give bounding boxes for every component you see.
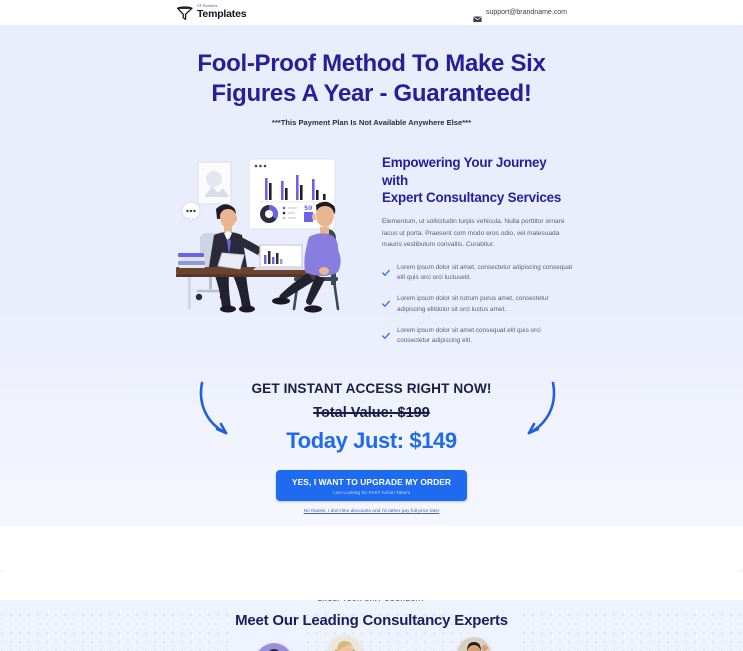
headline-line-1: Fool-Proof Method To Make Six <box>197 50 545 77</box>
hero-subheadline: ***This Payment Plan Is Not Available An… <box>0 118 743 127</box>
feature-title: Empowering Your Journey with Expert Cons… <box>382 154 573 207</box>
list-item: Lorem ipsum dolor sit amet consequat eli… <box>382 326 573 348</box>
brand-logo[interactable]: CF Funnels Templates <box>176 5 246 21</box>
feature-paragraph: Elementum, ut sollicitudin turpis vehicu… <box>382 216 573 251</box>
curve-shape <box>0 538 743 600</box>
upgrade-order-button-sublabel: I am Looking for FAST Action Takers <box>292 490 451 495</box>
checkmark-icon <box>382 295 390 303</box>
checkmark-icon <box>382 327 390 335</box>
feature-check-list: Lorem ipsum dolor sit amet, consectetur … <box>382 263 573 348</box>
page-title: Fool-Proof Method To Make Six Figures A … <box>0 49 743 109</box>
logo-name: Templates <box>197 9 246 20</box>
upgrade-order-button[interactable]: YES, I WANT TO UPGRADE MY ORDER I am Loo… <box>276 470 467 501</box>
list-item-label: Lorem ipsum dolor sit rutrum purus amet,… <box>397 294 573 316</box>
cta-heading: GET INSTANT ACCESS RIGHT NOW! <box>0 381 743 396</box>
svg-text:50: 50 <box>304 205 312 212</box>
avatar-expert-1[interactable] <box>255 643 293 651</box>
list-item: Lorem ipsum dolor sit amet, consectetur … <box>382 263 573 285</box>
curved-arrow-down-right-icon <box>196 377 238 454</box>
feature-title-line-1: Empowering Your Journey with <box>382 155 547 188</box>
upgrade-order-button-label: YES, I WANT TO UPGRADE MY ORDER <box>292 477 451 487</box>
top-bar: CF Funnels Templates support@brandname.c… <box>0 0 743 25</box>
list-item-label: Lorem ipsum dolor sit amet consequat eli… <box>397 326 573 348</box>
feature-title-line-2: Expert Consultancy Services <box>382 190 561 205</box>
contact-email-text: support@brandname.com <box>486 9 567 16</box>
curved-arrow-down-left-icon <box>517 377 559 454</box>
envelope-icon <box>473 10 481 16</box>
today-price-text: Today Just: $149 <box>0 428 743 454</box>
funnel-icon <box>176 5 194 21</box>
contact-email[interactable]: support@brandname.com <box>473 9 567 16</box>
headline-line-2: Figures A Year - Guaranteed! <box>211 80 531 107</box>
hero-section: Fool-Proof Method To Make Six Figures A … <box>0 25 743 530</box>
section-divider <box>0 526 743 570</box>
list-item: Lorem ipsum dolor sit rutrum purus amet,… <box>382 294 573 316</box>
avatar-expert-4[interactable] <box>457 637 491 651</box>
experts-avatar-row <box>0 639 743 651</box>
experts-title: Meet Our Leading Consultancy Experts <box>0 612 743 629</box>
checkmark-icon <box>382 264 390 272</box>
feature-copy: Empowering Your Journey with Expert Cons… <box>382 149 573 357</box>
total-value-text: Total Value: $199 <box>0 405 743 421</box>
decline-offer-link[interactable]: No thanks, I don't like discounts and I'… <box>0 509 743 514</box>
feature-section: 50 <box>0 127 743 357</box>
list-item-label: Lorem ipsum dolor sit amet, consectetur … <box>397 263 573 285</box>
business-meeting-illustration: 50 <box>176 149 362 327</box>
landing-page: CF Funnels Templates support@brandname.c… <box>0 0 743 651</box>
cta-section: GET INSTANT ACCESS RIGHT NOW! Total Valu… <box>0 381 743 524</box>
